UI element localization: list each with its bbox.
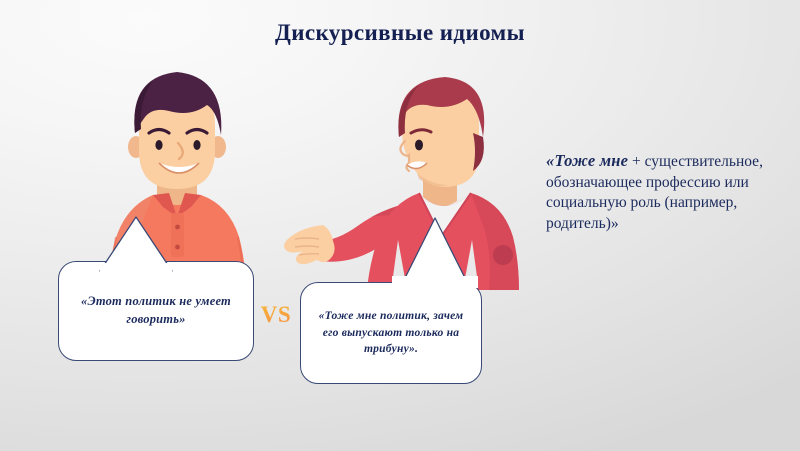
- definition-block: «Тоже мне + существительное, обозначающе…: [546, 150, 792, 234]
- page-title: Дискурсивные идиомы: [0, 20, 800, 46]
- right-speech-bubble-text: «Тоже мне политик, зачем его выпускают т…: [301, 308, 481, 357]
- left-bubble-tail: [98, 215, 174, 273]
- left-speech-bubble-text: «Этот политик не умеет говорить»: [59, 293, 253, 329]
- right-bubble-tail: [392, 214, 478, 288]
- right-speech-bubble: «Тоже мне политик, зачем его выпускают т…: [300, 282, 482, 384]
- versus-label: VS: [256, 302, 296, 328]
- left-speech-bubble: «Этот политик не умеет говорить»: [58, 261, 254, 361]
- slide-canvas: Дискурсивные идиомы: [0, 0, 800, 451]
- definition-lead-phrase: «Тоже мне: [546, 151, 628, 170]
